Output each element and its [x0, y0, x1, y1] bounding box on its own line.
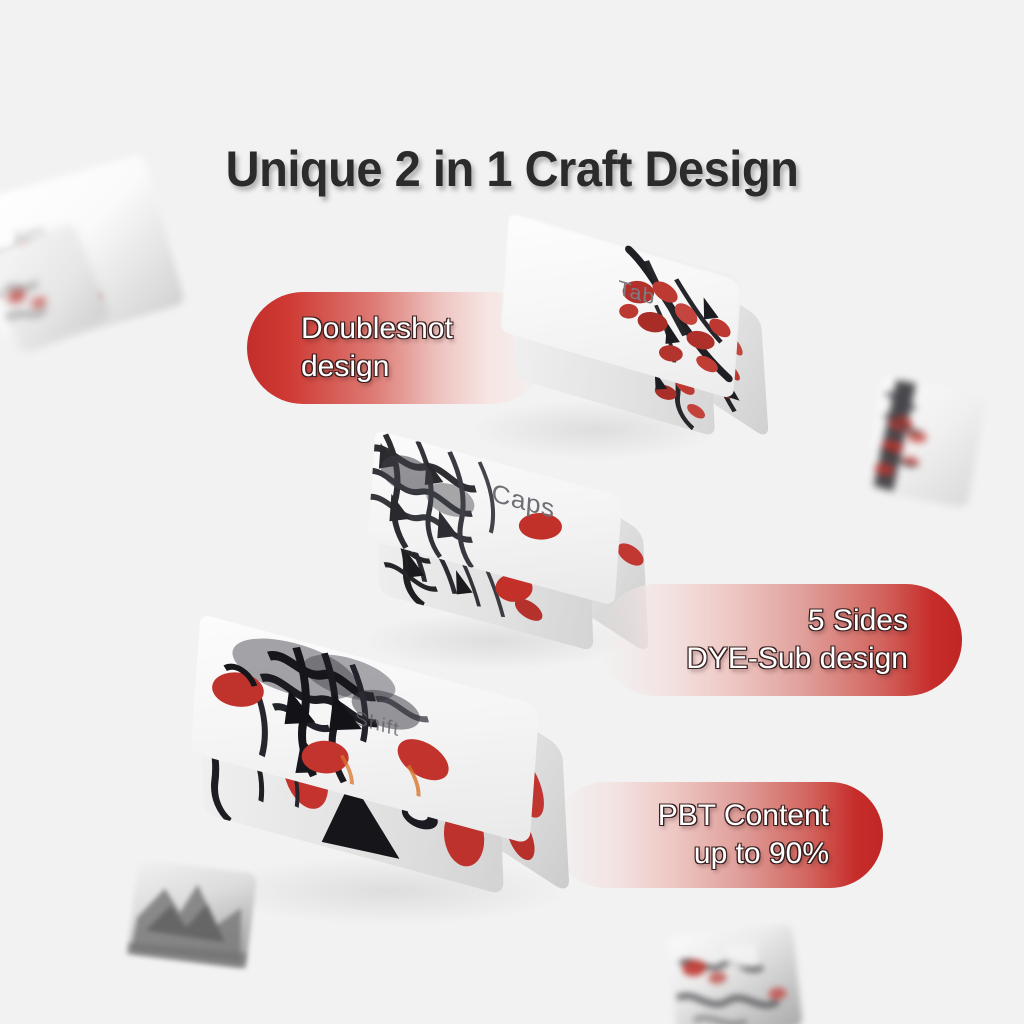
- dyesub-callout: 5 Sides DYE-Sub design: [600, 584, 962, 696]
- page-title: Unique 2 in 1 Craft Design: [31, 141, 994, 197]
- product-feature-banner: Enter: [0, 0, 1024, 1024]
- keycap-caps-legend: Caps: [491, 478, 556, 525]
- keycap-blurred-right: [863, 376, 988, 509]
- keycap-tab: Tab: [505, 243, 773, 448]
- pbt-callout: PBT Content up to 90%: [553, 782, 883, 888]
- pbt-callout-line-2: up to 90%: [553, 835, 883, 873]
- dyesub-callout-line-1: 5 Sides: [600, 602, 962, 640]
- keycap-blurred-bottom-right: [667, 924, 803, 1024]
- doubleshot-callout-line-2: design: [247, 348, 547, 386]
- keycap-tab-legend: Tab: [617, 277, 656, 311]
- keycap-shift-legend: Shift: [354, 707, 401, 742]
- dyesub-callout-line-2: DYE-Sub design: [600, 640, 962, 678]
- pbt-callout-line-1: PBT Content: [553, 797, 883, 835]
- keycap-shift: Shift: [196, 658, 590, 903]
